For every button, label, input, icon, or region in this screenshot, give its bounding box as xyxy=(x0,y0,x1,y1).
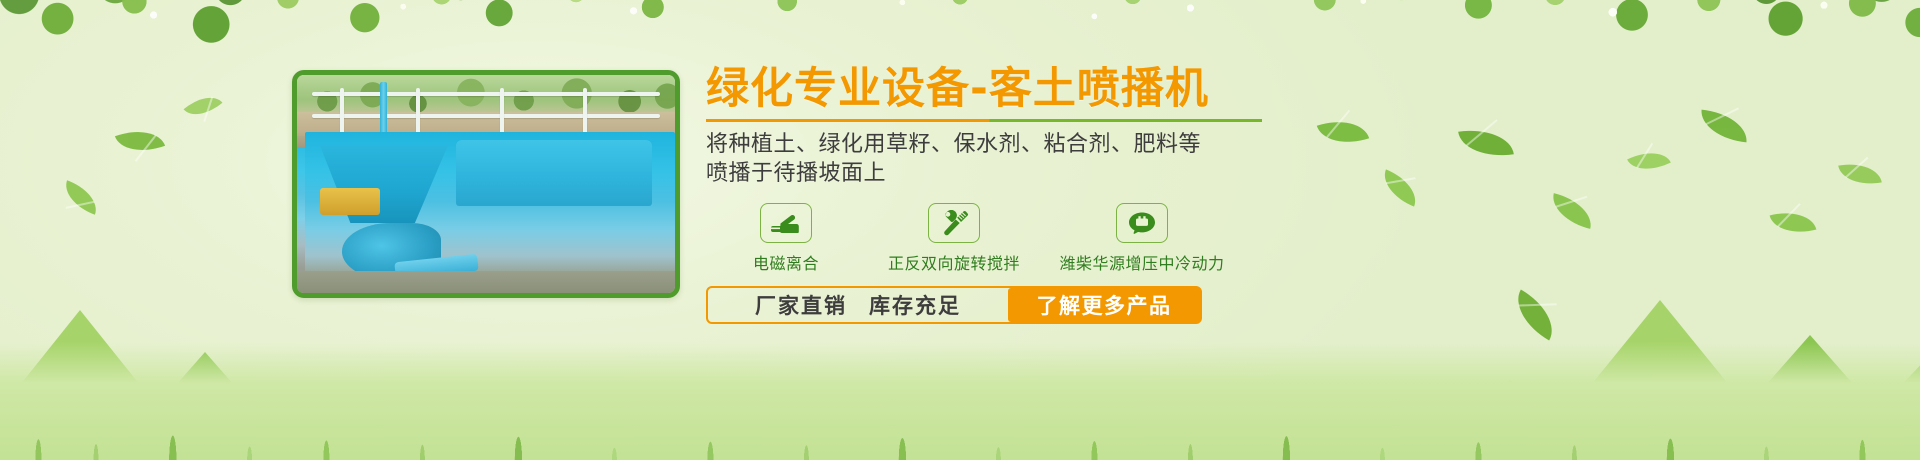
product-photo-image xyxy=(297,75,675,293)
photo-yellow-part xyxy=(320,188,380,214)
cta-tagline: 厂家直销 库存充足 xyxy=(708,288,1008,322)
subtitle-line-2: 喷播于待播坡面上 xyxy=(706,160,1826,189)
subtitle-line-1: 将种植土、绿化用草籽、保水剂、粘合剂、肥料等 xyxy=(706,131,1826,160)
photo-railing xyxy=(312,88,660,136)
product-photo[interactable] xyxy=(292,70,680,298)
feature-item-mixing[interactable]: 正反双向旋转搅拌 xyxy=(866,203,1042,274)
feature-item-clutch[interactable]: 电磁离合 xyxy=(706,203,866,274)
clutch-hand-icon xyxy=(771,211,801,235)
cta-bar: 厂家直销 库存充足 了解更多产品 xyxy=(706,286,1202,324)
feature-label: 正反双向旋转搅拌 xyxy=(888,250,1020,274)
feature-label: 电磁离合 xyxy=(753,250,819,274)
promo-banner: 绿化专业设备-客土喷播机 将种植土、绿化用草籽、保水剂、粘合剂、肥料等 喷播于待… xyxy=(0,0,1920,460)
feature-icon-frame xyxy=(928,203,980,243)
white-blossoms xyxy=(0,0,1920,64)
wrench-screwdriver-icon xyxy=(939,210,969,236)
title-divider xyxy=(706,119,1262,122)
feature-icon-frame xyxy=(760,203,812,243)
feature-icon-frame xyxy=(1116,203,1168,243)
learn-more-button[interactable]: 了解更多产品 xyxy=(1008,288,1200,322)
feature-item-engine[interactable]: 潍柴华源增压中冷动力 xyxy=(1042,203,1242,274)
photo-tank xyxy=(456,140,653,205)
grass-tufts xyxy=(0,365,1920,460)
banner-subtitle: 将种植土、绿化用草籽、保水剂、粘合剂、肥料等 喷播于待播坡面上 xyxy=(706,131,1826,188)
photo-ground xyxy=(297,271,675,293)
page-title: 绿化专业设备-客土喷播机 xyxy=(706,66,1826,112)
feature-list: 电磁离合 xyxy=(706,203,1826,274)
feature-label: 潍柴华源增压中冷动力 xyxy=(1059,250,1224,274)
cta-tag-factory-direct: 厂家直销 xyxy=(755,290,847,320)
engine-power-icon xyxy=(1127,211,1157,235)
cta-tag-stock: 库存充足 xyxy=(869,290,961,320)
banner-content: 绿化专业设备-客土喷播机 将种植土、绿化用草籽、保水剂、粘合剂、肥料等 喷播于待… xyxy=(706,66,1826,324)
